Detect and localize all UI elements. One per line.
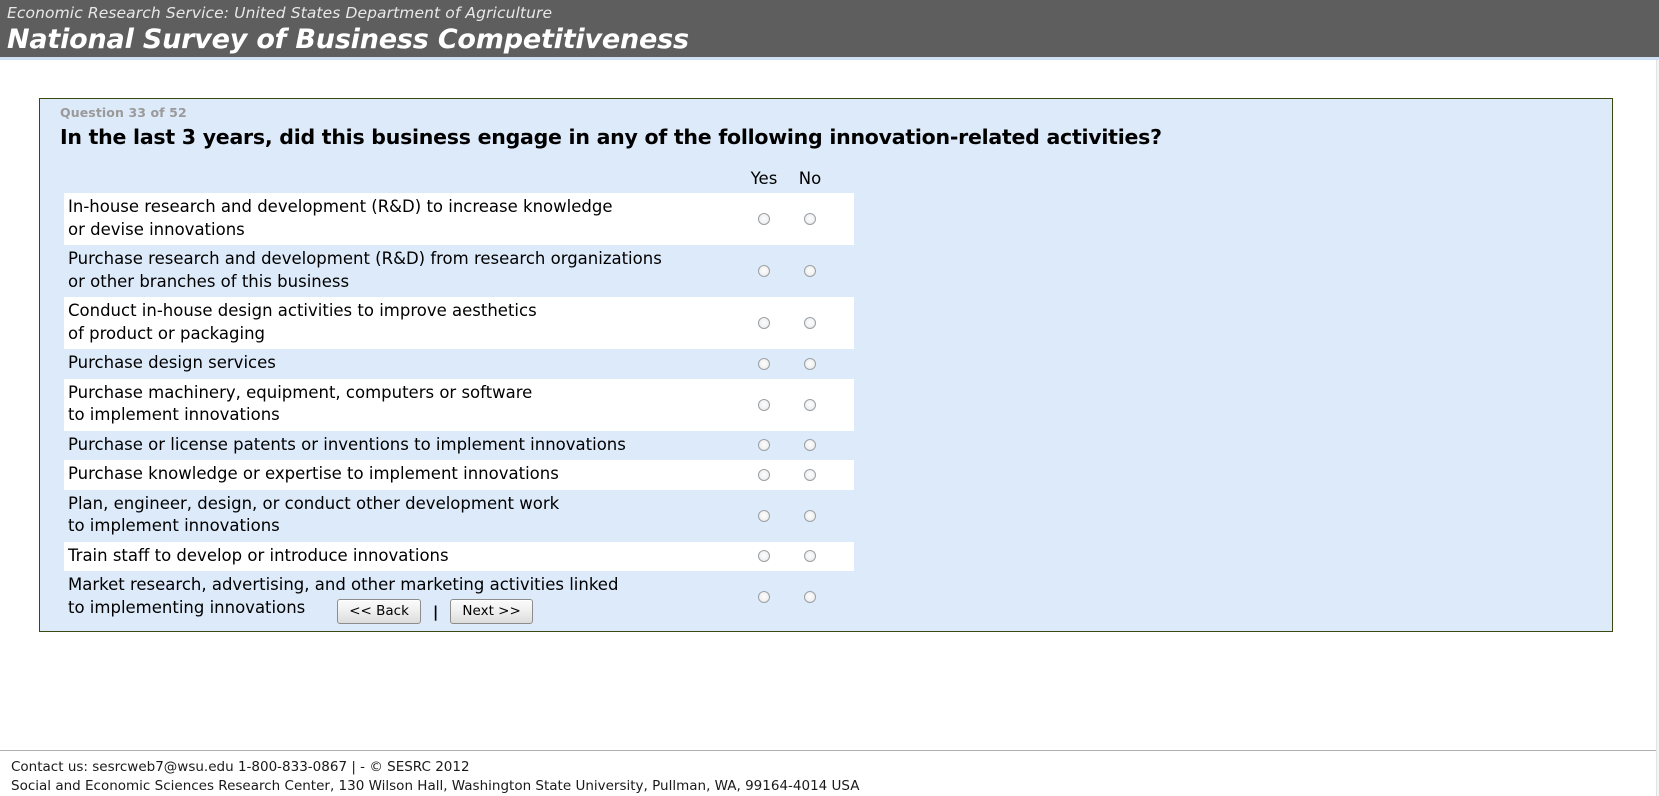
radio-cell-no[interactable] <box>795 193 825 245</box>
radio-cell-yes[interactable] <box>749 542 779 572</box>
nav-separator: | <box>431 603 440 621</box>
radio-button-no[interactable] <box>804 358 816 370</box>
footer-divider <box>0 750 1659 751</box>
radio-cell-yes[interactable] <box>749 460 779 490</box>
radio-button-yes[interactable] <box>758 399 770 411</box>
radio-cell-no[interactable] <box>795 431 825 461</box>
radio-cell-yes[interactable] <box>749 193 779 245</box>
radio-cell-no[interactable] <box>795 245 825 297</box>
column-header-no: No <box>780 169 840 188</box>
matrix-row: In-house research and development (R&D) … <box>64 193 854 245</box>
header-underline <box>0 57 1659 60</box>
radio-cell-yes[interactable] <box>749 297 779 349</box>
back-button[interactable]: << Back <box>337 599 421 624</box>
matrix-row: Purchase knowledge or expertise to imple… <box>64 460 854 490</box>
radio-button-no[interactable] <box>804 265 816 277</box>
matrix-row-label: Train staff to develop or introduce inno… <box>64 542 758 572</box>
matrix-row-label: In-house research and development (R&D) … <box>64 193 758 245</box>
radio-button-no[interactable] <box>804 510 816 522</box>
radio-cell-yes[interactable] <box>749 431 779 461</box>
radio-cell-yes[interactable] <box>749 379 779 431</box>
radio-button-yes[interactable] <box>758 265 770 277</box>
matrix-row: Plan, engineer, design, or conduct other… <box>64 490 854 542</box>
matrix-column-headers: Yes No <box>40 169 1612 193</box>
question-progress-label: Question 33 of 52 <box>60 105 187 120</box>
radio-cell-yes[interactable] <box>749 349 779 379</box>
radio-button-no[interactable] <box>804 399 816 411</box>
matrix-row: Conduct in-house design activities to im… <box>64 297 854 349</box>
radio-cell-yes[interactable] <box>749 245 779 297</box>
radio-button-no[interactable] <box>804 550 816 562</box>
radio-cell-no[interactable] <box>795 490 825 542</box>
radio-button-yes[interactable] <box>758 469 770 481</box>
radio-button-yes[interactable] <box>758 358 770 370</box>
radio-cell-yes[interactable] <box>749 490 779 542</box>
matrix-row-label: Purchase or license patents or invention… <box>64 431 758 461</box>
radio-cell-no[interactable] <box>795 460 825 490</box>
radio-cell-no[interactable] <box>795 349 825 379</box>
matrix-row: Purchase machinery, equipment, computers… <box>64 379 854 431</box>
next-button[interactable]: Next >> <box>450 599 532 624</box>
radio-cell-no[interactable] <box>795 542 825 572</box>
radio-button-no[interactable] <box>804 213 816 225</box>
radio-button-yes[interactable] <box>758 317 770 329</box>
matrix-row: Purchase design services <box>64 349 854 379</box>
radio-button-no[interactable] <box>804 469 816 481</box>
radio-button-yes[interactable] <box>758 510 770 522</box>
matrix-row-label: Purchase knowledge or expertise to imple… <box>64 460 758 490</box>
radio-button-no[interactable] <box>804 439 816 451</box>
question-title: In the last 3 years, did this business e… <box>60 125 1162 149</box>
matrix-row: Purchase research and development (R&D) … <box>64 245 854 297</box>
footer-contact-line: Contact us: sesrcweb7@wsu.edu 1-800-833-… <box>11 758 1511 777</box>
radio-button-yes[interactable] <box>758 213 770 225</box>
radio-button-yes[interactable] <box>758 550 770 562</box>
radio-button-no[interactable] <box>804 317 816 329</box>
agency-name: Economic Research Service: United States… <box>7 0 1659 24</box>
matrix-row-label: Purchase machinery, equipment, computers… <box>64 379 758 431</box>
matrix-row-label: Plan, engineer, design, or conduct other… <box>64 490 758 542</box>
innovation-activities-matrix: In-house research and development (R&D) … <box>64 193 854 623</box>
matrix-row-label: Purchase research and development (R&D) … <box>64 245 758 297</box>
navigation-bar: << Back | Next >> <box>40 599 830 624</box>
footer-address-line: Social and Economic Sciences Research Ce… <box>11 777 1511 796</box>
matrix-row: Train staff to develop or introduce inno… <box>64 542 854 572</box>
radio-cell-no[interactable] <box>795 297 825 349</box>
matrix-row-label: Conduct in-house design activities to im… <box>64 297 758 349</box>
survey-title: National Survey of Business Competitiven… <box>7 24 1659 56</box>
matrix-row: Purchase or license patents or invention… <box>64 431 854 461</box>
matrix-row-label: Purchase design services <box>64 349 758 379</box>
radio-cell-no[interactable] <box>795 379 825 431</box>
radio-button-yes[interactable] <box>758 439 770 451</box>
site-header: Economic Research Service: United States… <box>0 0 1659 57</box>
question-panel: Question 33 of 52 In the last 3 years, d… <box>39 98 1613 632</box>
footer: Contact us: sesrcweb7@wsu.edu 1-800-833-… <box>11 758 1511 796</box>
